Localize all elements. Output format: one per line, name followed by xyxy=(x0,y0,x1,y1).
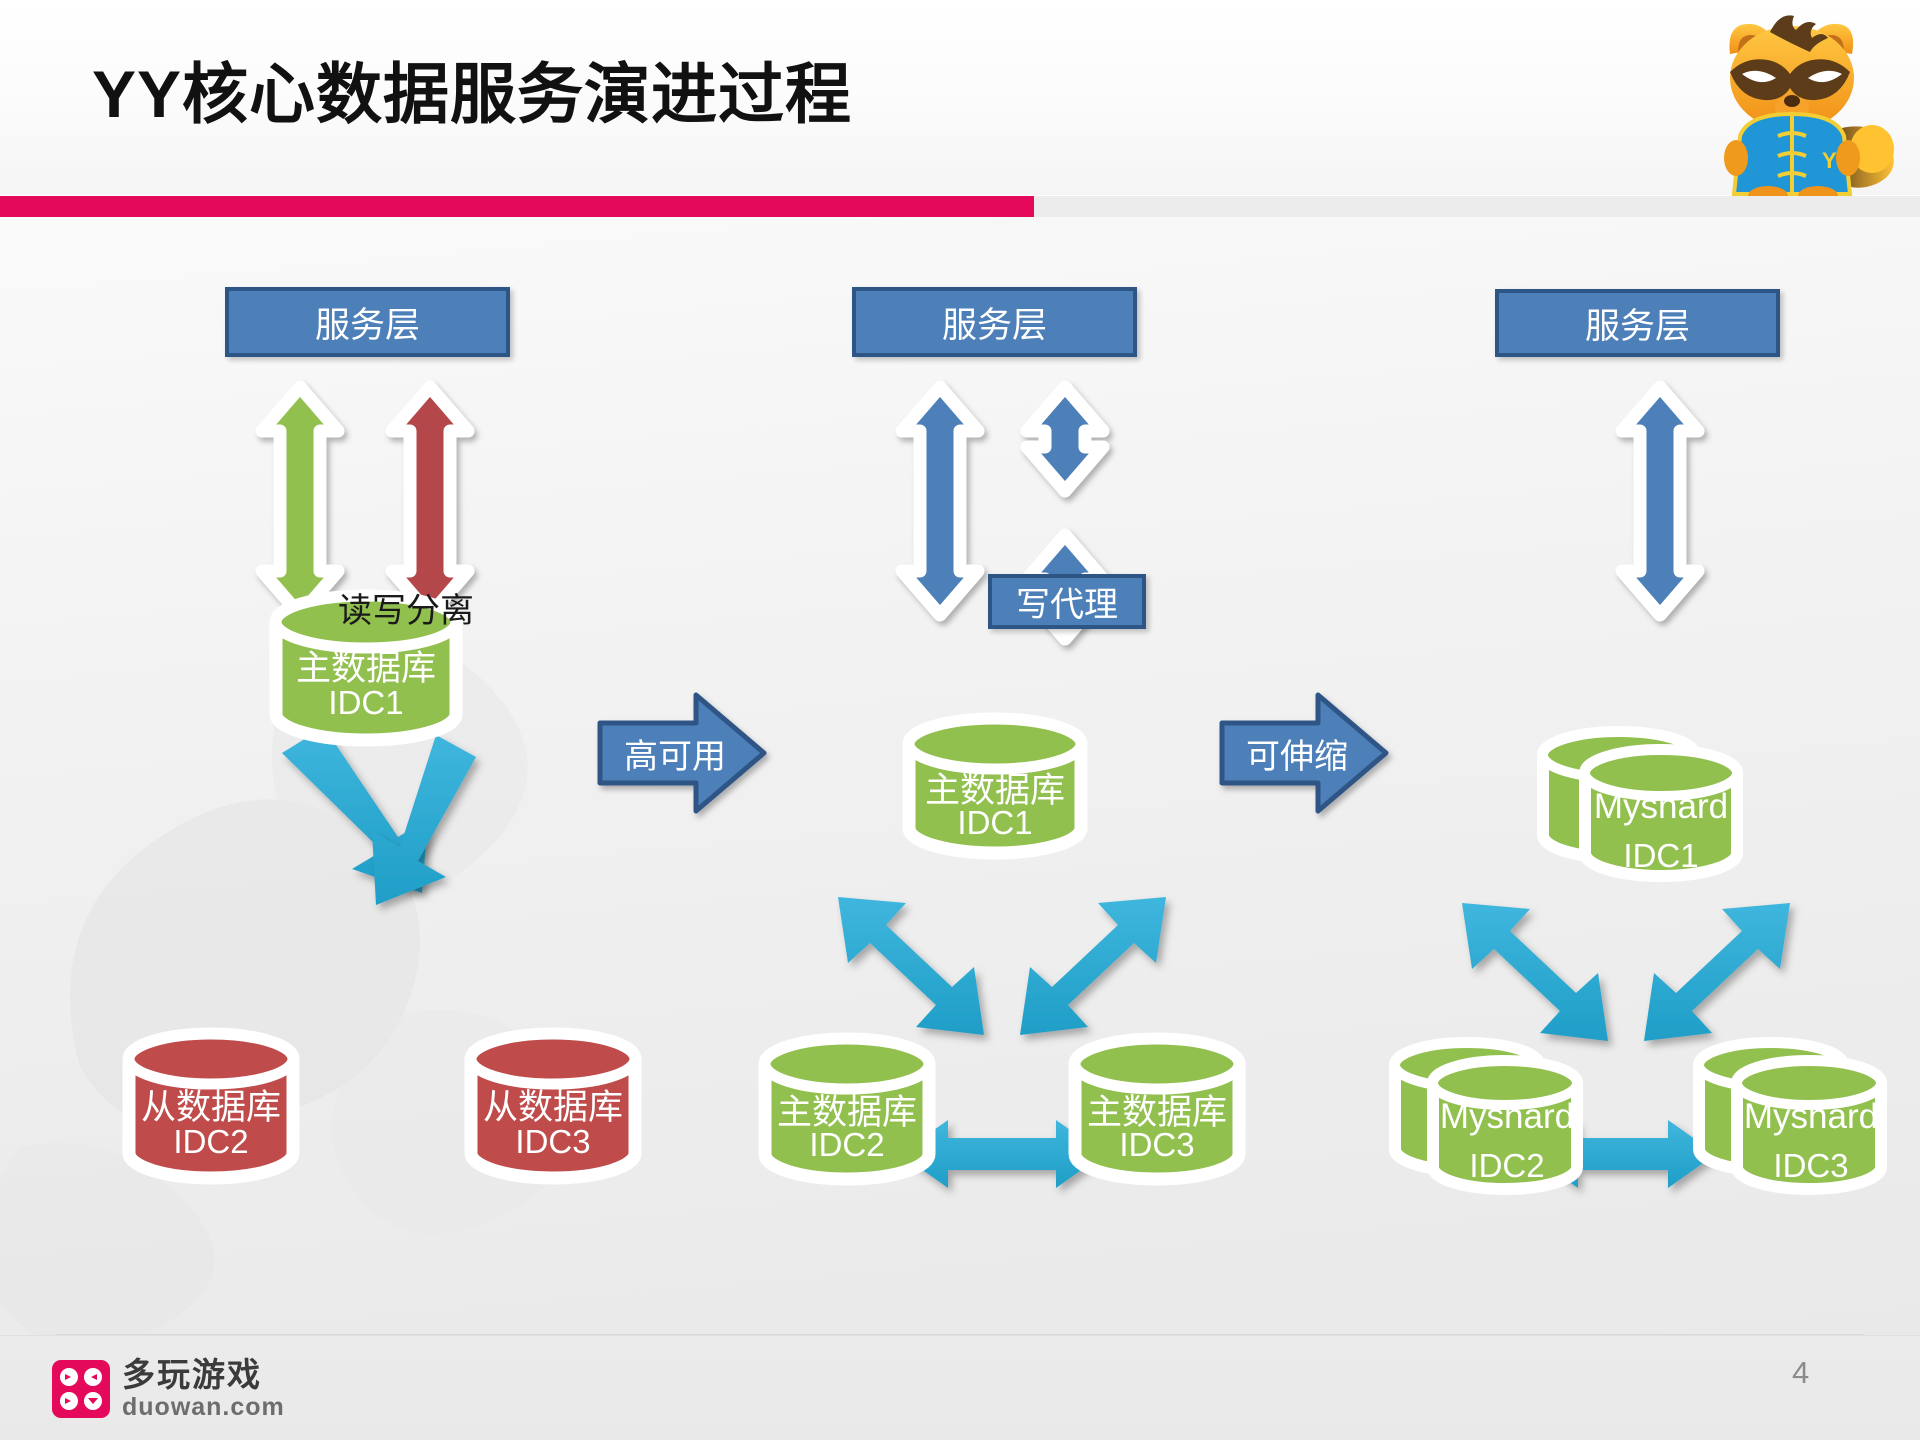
duowan-brand: 多玩游戏 duowan.com xyxy=(52,1358,285,1420)
header-gray-bar xyxy=(1034,196,1920,217)
stage3-node-right[interactable]: Myshard IDC3 xyxy=(1686,1035,1906,1195)
stage3-service-layer-label: 服务层 xyxy=(1585,298,1690,349)
diagram-canvas: 服务层 读写分离 主数据库 IDC1 从数据库 IDC2 xyxy=(0,217,1920,1335)
stage1-service-layer-box[interactable]: 服务层 xyxy=(225,287,510,357)
duowan-logo-icon xyxy=(52,1360,110,1418)
stage3-node-left[interactable]: Myshard IDC2 xyxy=(1382,1035,1602,1195)
stage1-node-right[interactable]: 从数据库 IDC3 xyxy=(458,1027,648,1187)
brand-name-cn: 多玩游戏 xyxy=(122,1358,285,1391)
stage2-node-left[interactable]: 主数据库 IDC2 xyxy=(752,1032,942,1187)
transition-1-label: 高可用 xyxy=(624,729,726,778)
stage2-node-right[interactable]: 主数据库 IDC3 xyxy=(1062,1032,1252,1187)
stage3-sync-right-arrow xyxy=(1644,903,1790,1041)
stage3-sync-left-arrow xyxy=(1462,903,1608,1041)
page-title: YY核心数据服务演进过程 xyxy=(92,58,852,131)
footer-divider xyxy=(56,1334,1864,1335)
stage1-node-left[interactable]: 从数据库 IDC2 xyxy=(116,1027,306,1187)
stage1-replicate-right-arrow xyxy=(372,735,476,905)
slide-header: YY核心数据服务演进过程 xyxy=(0,0,1920,195)
slide: YY核心数据服务演进过程 xyxy=(0,0,1920,1440)
yy-mascot-icon: Y xyxy=(1706,8,1896,200)
stage1-annotation-read-write-split: 读写分离 xyxy=(338,583,474,632)
brand-name-en: duowan.com xyxy=(122,1395,285,1420)
stage2-write-proxy-label: 写代理 xyxy=(1016,577,1118,626)
stage1-service-layer-label: 服务层 xyxy=(315,297,420,348)
stage3-service-layer-box[interactable]: 服务层 xyxy=(1495,289,1780,357)
stage1-write-arrow xyxy=(392,387,468,615)
stage2-sync-left-arrow xyxy=(838,897,984,1035)
transition-2-label: 可伸缩 xyxy=(1246,729,1348,778)
stage2-service-layer-box[interactable]: 服务层 xyxy=(852,287,1137,357)
header-accent-bar xyxy=(0,196,1034,217)
stage2-service-layer-label: 服务层 xyxy=(942,297,1047,348)
stage2-service-arrow xyxy=(902,387,978,615)
svg-text:Y: Y xyxy=(1822,148,1837,173)
stage2-proxy-top-arrow xyxy=(1027,387,1103,491)
stage2-write-proxy-box[interactable]: 写代理 xyxy=(988,574,1146,629)
page-number: 4 xyxy=(1792,1355,1809,1391)
stage3-service-arrow xyxy=(1622,387,1698,615)
stage2-node-top[interactable]: 主数据库 IDC1 xyxy=(896,712,1094,862)
stage1-read-arrow xyxy=(262,387,338,615)
stage3-node-top[interactable]: Myshard IDC1 xyxy=(1530,725,1760,885)
slide-footer xyxy=(0,1335,1920,1440)
stage2-sync-right-arrow xyxy=(1020,897,1166,1035)
